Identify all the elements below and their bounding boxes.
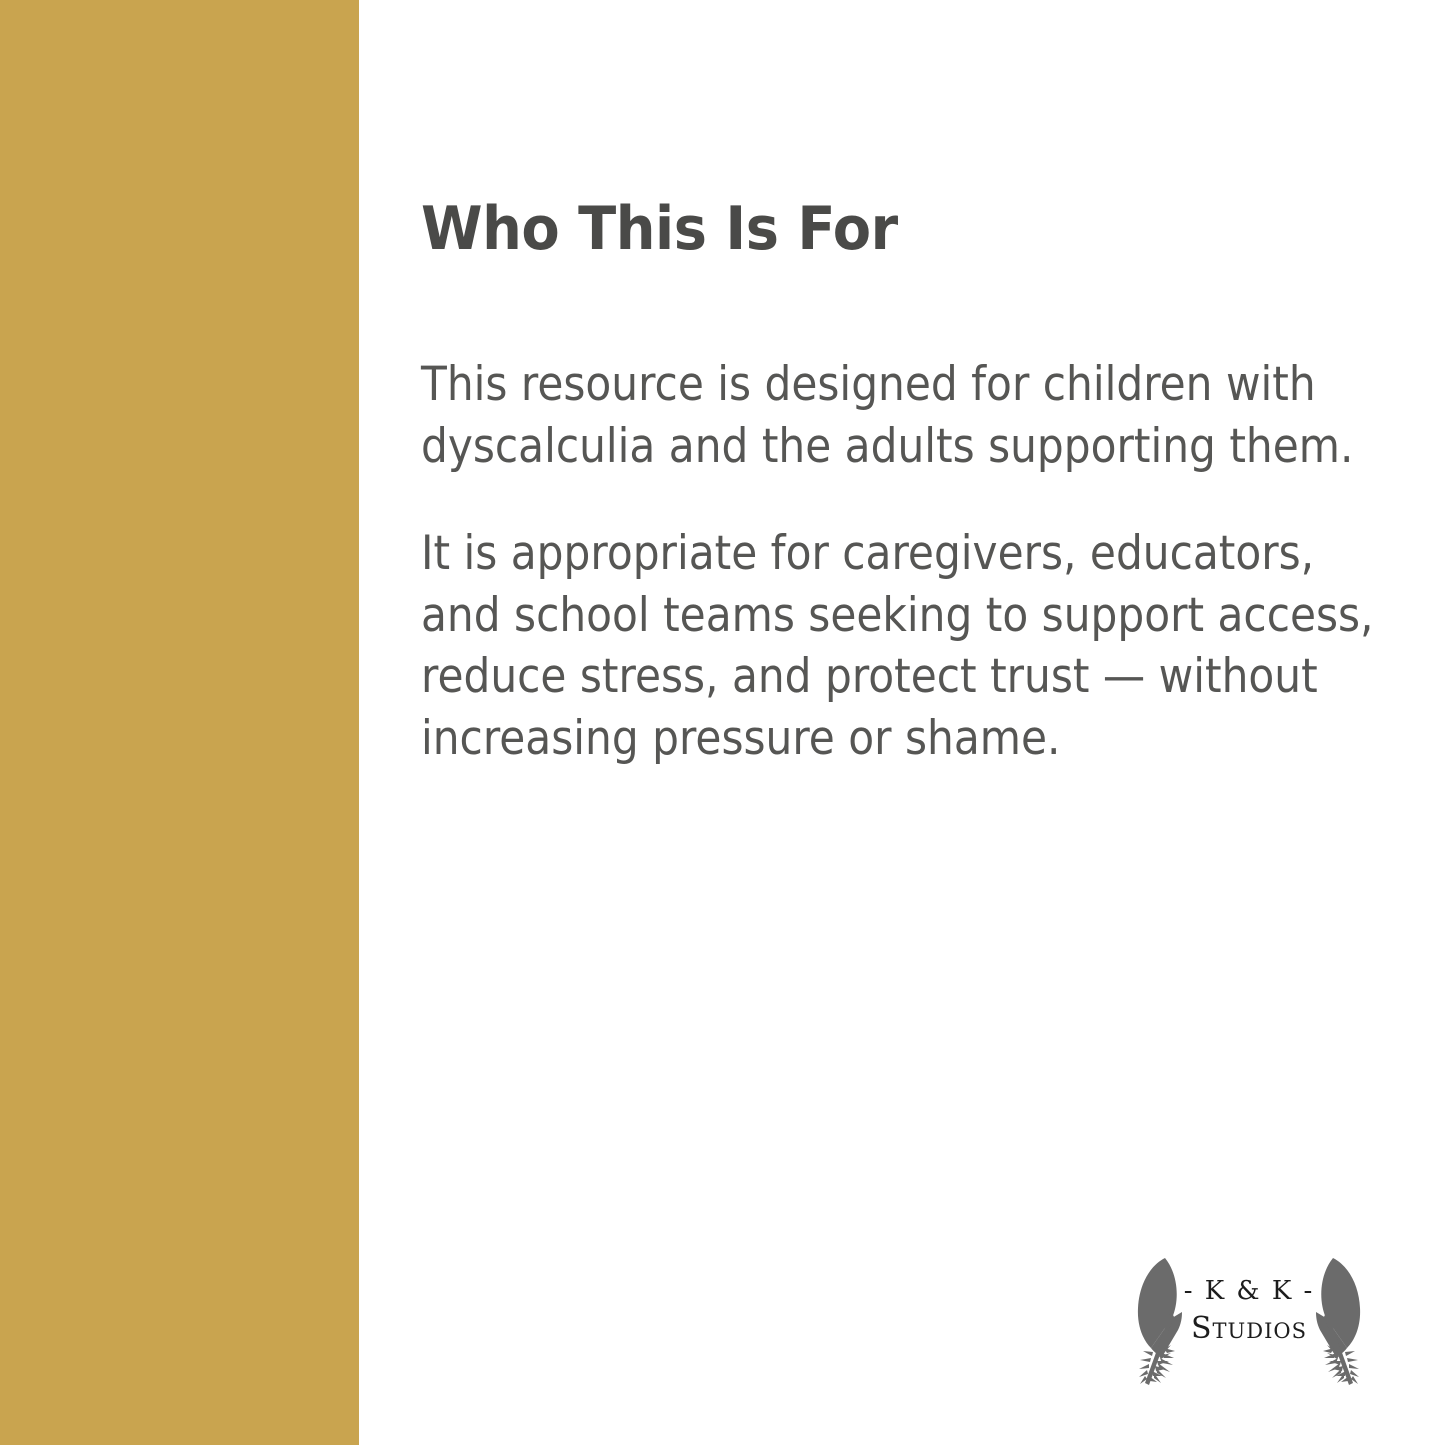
accent-bar-left (0, 0, 359, 1445)
body-paragraph-1: This resource is designed for children w… (421, 354, 1375, 477)
brand-logo: - K & K - Studios (1131, 1252, 1367, 1388)
body-text-block: This resource is designed for children w… (421, 354, 1381, 769)
body-paragraph-2: It is appropriate for caregivers, educat… (421, 523, 1375, 769)
feather-icon-right (1305, 1252, 1367, 1388)
page-title: Who This Is For (421, 196, 1314, 262)
content-column: Who This Is For This resource is designe… (421, 196, 1381, 769)
slide-canvas: Who This Is For This resource is designe… (0, 0, 1445, 1445)
